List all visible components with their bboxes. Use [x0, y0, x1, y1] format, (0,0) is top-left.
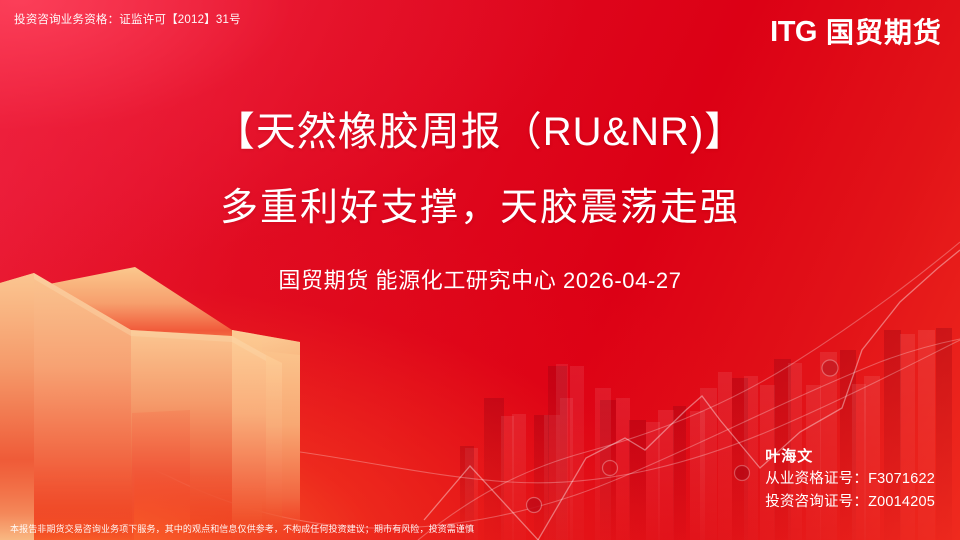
author-practice-certificate: 从业资格证号：F3071622: [765, 468, 935, 491]
qualification-statement: 投资咨询业务资格：证监许可【2012】31号: [14, 12, 241, 28]
page-title: 【天然橡胶周报（RU&NR)】: [0, 104, 960, 160]
itg-building-graphic: [0, 267, 300, 540]
department-and-date: 国贸期货 能源化工研究中心 2026-04-27: [0, 266, 960, 296]
logo-itg-mark: ITG: [770, 18, 817, 47]
author-credentials: 叶海文 从业资格证号：F3071622 投资咨询证号：Z0014205: [765, 446, 935, 514]
footer-bar: 本报告非期货交易咨询业务项下服务，其中的观点和信息仅供参考，不构成任何投资建议；…: [0, 518, 960, 540]
itg-building-shape: [0, 273, 282, 540]
page-subtitle: 多重利好支撑，天胶震荡走强: [0, 182, 960, 234]
footer-disclaimer: 本报告非期货交易咨询业务项下服务，其中的观点和信息仅供参考，不构成任何投资建议；…: [0, 523, 474, 535]
presentation-cover-slide: 投资咨询业务资格：证监许可【2012】31号 ITG 国贸期货 【天然橡胶周报（…: [0, 0, 960, 540]
logo-company-name: 国贸期货: [826, 19, 942, 47]
company-logo: ITG 国贸期货: [770, 18, 942, 47]
title-block: 【天然橡胶周报（RU&NR)】 多重利好支撑，天胶震荡走强 国贸期货 能源化工研…: [0, 104, 960, 296]
author-name: 叶海文: [765, 446, 935, 468]
author-consulting-certificate: 投资咨询证号：Z0014205: [765, 491, 935, 514]
